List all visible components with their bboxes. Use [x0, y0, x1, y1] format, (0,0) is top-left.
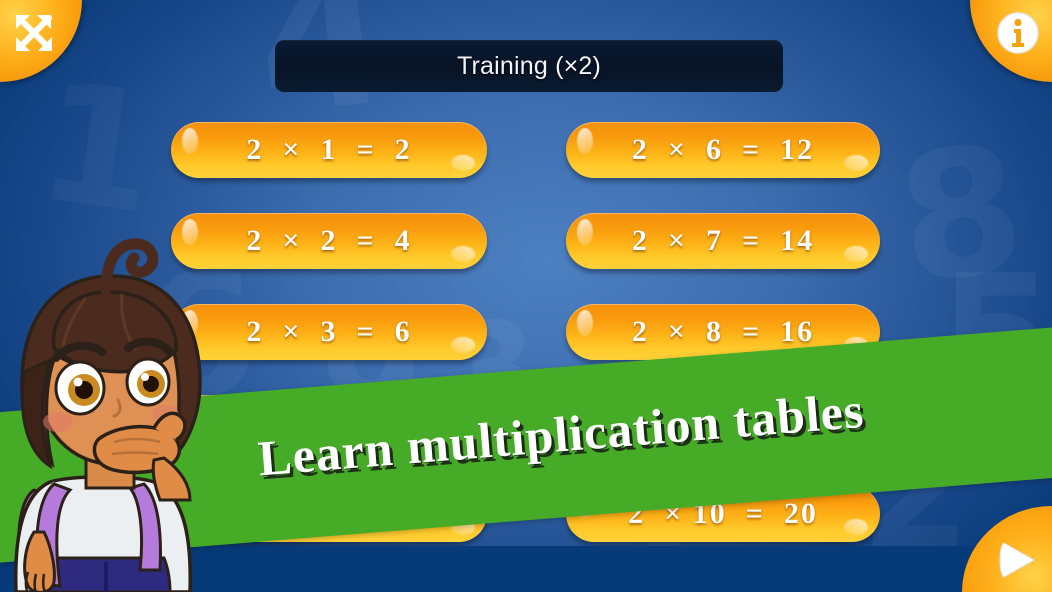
- equation-button-2x3[interactable]: 2 × 3 = 6: [171, 304, 487, 360]
- page-title: Training (×2): [457, 52, 601, 81]
- info-button[interactable]: [970, 0, 1052, 82]
- equation-label: 2 × 1 = 2: [246, 133, 411, 167]
- equation-label: 2 × 2 = 4: [246, 224, 411, 258]
- equation-label: 2 × 7 = 14: [632, 224, 814, 258]
- info-icon: [992, 7, 1044, 59]
- equation-button-2x6[interactable]: 2 × 6 = 12: [566, 122, 880, 178]
- equation-label: 2 × 8 = 16: [632, 315, 814, 349]
- app-stage: 1 4 6 9 3 8 5 2 7 Training (×2) 2 × 1 = …: [0, 0, 1052, 592]
- equation-label: 2 × 6 = 12: [632, 133, 814, 167]
- promo-banner-text: Learn multiplication tables: [256, 381, 866, 488]
- bottom-strip: [0, 546, 1052, 592]
- equation-label: 2 × 3 = 6: [246, 315, 411, 349]
- equation-button-2x7[interactable]: 2 × 7 = 14: [566, 213, 880, 269]
- equation-button-2x1[interactable]: 2 × 1 = 2: [171, 122, 487, 178]
- shuffle-button[interactable]: [0, 0, 82, 82]
- equation-button-2x2[interactable]: 2 × 2 = 4: [171, 213, 487, 269]
- shuffle-icon: [8, 7, 60, 59]
- play-next-icon: [988, 535, 1044, 585]
- title-bar: Training (×2): [275, 40, 783, 92]
